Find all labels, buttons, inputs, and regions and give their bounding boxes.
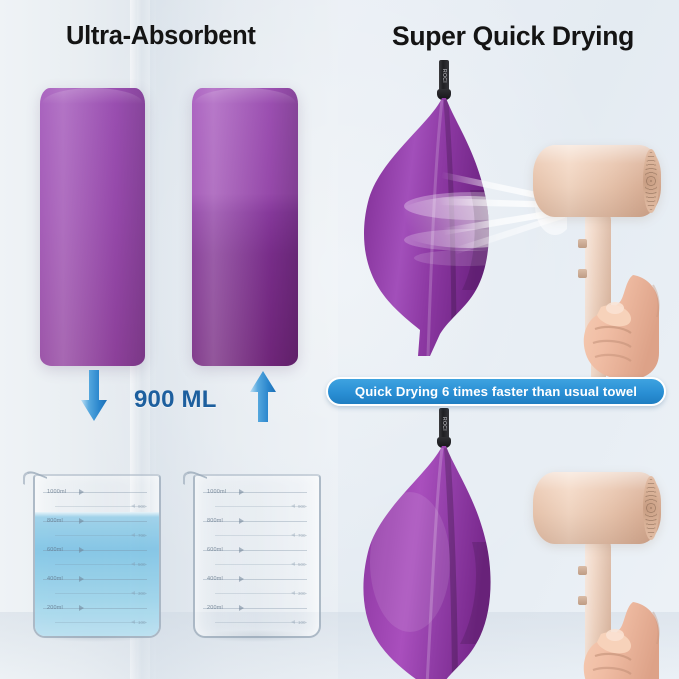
brand-logo-tag: ROCI	[439, 414, 449, 434]
heading-ultra-absorbent: Ultra-Absorbent	[66, 22, 256, 51]
towel-roll-top-highlight	[42, 88, 143, 104]
beaker-body: 1000ml 900 800ml 700 600ml 500 400ml 300	[193, 474, 321, 638]
quick-drying-badge-text: Quick Drying 6 times faster than usual t…	[355, 384, 637, 399]
beaker-with-water: 1000ml 900 800ml 700 600ml 500 400ml 300	[27, 466, 163, 638]
capacity-label: 900 ML	[134, 386, 217, 414]
arrow-down-icon	[79, 370, 109, 422]
hair-dryer-button[interactable]	[578, 566, 587, 575]
beaker-empty: 1000ml 900 800ml 700 600ml 500 400ml 300	[187, 466, 323, 638]
beaker-body: 1000ml 900 800ml 700 600ml 500 400ml 300	[33, 474, 161, 638]
graduation-label: 1000ml	[207, 489, 226, 495]
hand-holding-dryer	[579, 273, 661, 381]
graduation-label: 200ml	[47, 605, 63, 611]
beaker-liquid	[35, 512, 159, 636]
graduation-label: 200ml	[207, 605, 223, 611]
graduation-label: 400ml	[207, 576, 223, 582]
hair-dryer-blowing	[503, 135, 678, 385]
graduation-label-right: 900	[298, 504, 306, 509]
hand-holding-dryer	[579, 600, 661, 679]
heading-super-quick-drying: Super Quick Drying	[392, 21, 634, 52]
graduation-label-right: 900	[138, 504, 146, 509]
graduation-label-right: 500	[138, 562, 146, 567]
hair-dryer-barrel	[533, 472, 661, 544]
graduation-label-right: 300	[138, 591, 146, 596]
graduation-label-right: 700	[298, 533, 306, 538]
quick-drying-badge: Quick Drying 6 times faster than usual t…	[326, 377, 666, 406]
graduation-label-right: 100	[298, 620, 306, 625]
graduation-label: 800ml	[207, 518, 223, 524]
graduation-label: 400ml	[47, 576, 63, 582]
graduation-label-right: 100	[138, 620, 146, 625]
hair-dryer-barrel	[533, 145, 661, 217]
graduation-label-right: 700	[138, 533, 146, 538]
arrow-up-icon	[248, 370, 278, 422]
graduation-label-right: 500	[298, 562, 306, 567]
hair-dryer-grille	[643, 476, 659, 540]
graduation-label-right: 300	[298, 591, 306, 596]
hair-dryer-idle	[503, 462, 678, 679]
hair-dryer-grille	[643, 149, 659, 213]
towel-roll-top-highlight	[194, 88, 296, 104]
dry-rolled-towel	[40, 88, 145, 366]
product-infographic: Ultra-Absorbent Super Quick Drying	[0, 0, 679, 679]
graduation-label: 600ml	[47, 547, 63, 553]
graduation-label: 1000ml	[47, 489, 66, 495]
graduation-label: 600ml	[207, 547, 223, 553]
brand-logo-tag: ROCI	[439, 66, 449, 86]
wet-rolled-towel	[192, 88, 298, 366]
graduation-label: 800ml	[47, 518, 63, 524]
hair-dryer-button[interactable]	[578, 239, 587, 248]
